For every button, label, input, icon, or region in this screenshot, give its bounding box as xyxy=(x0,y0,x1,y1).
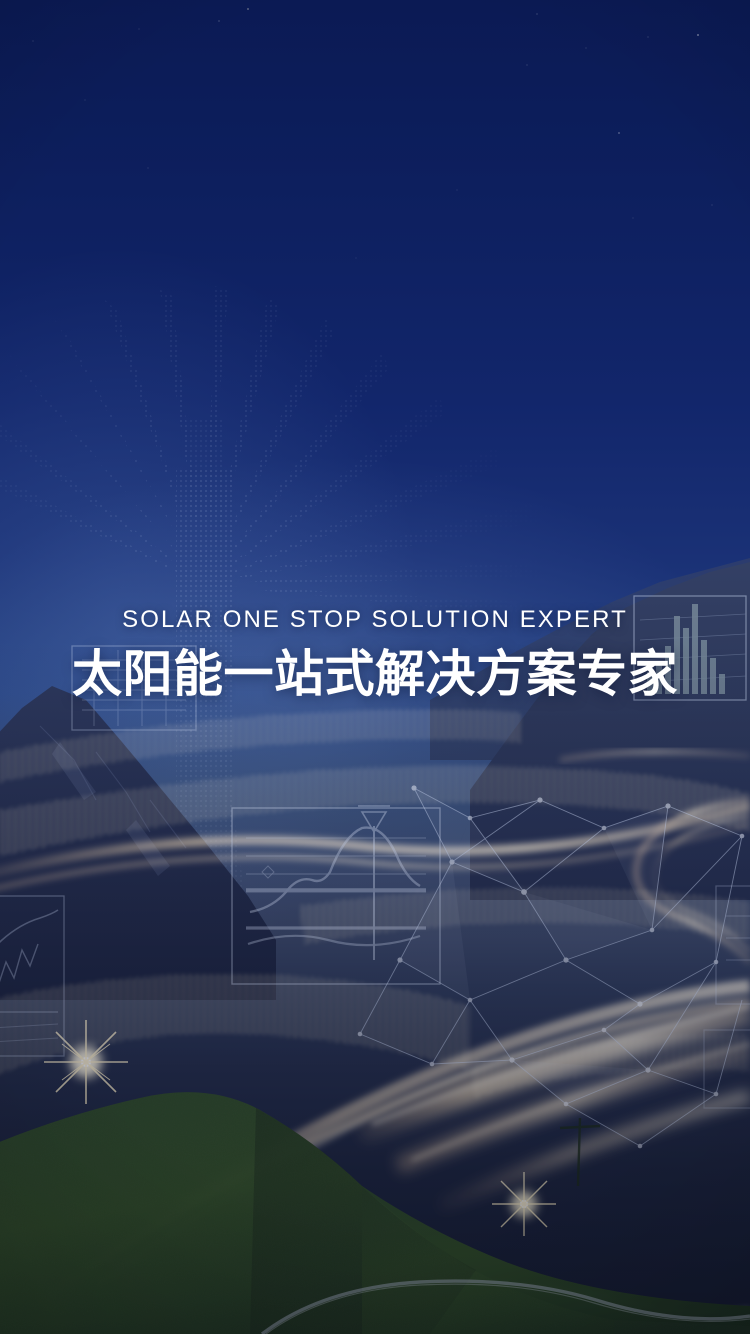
hero-banner: SOLAR ONE STOP SOLUTION EXPERT 太阳能一站式解决方… xyxy=(0,0,750,1334)
bracket-panel-icon xyxy=(716,886,750,1004)
bracket-panel-icon xyxy=(704,1030,750,1108)
lens-flare-icon xyxy=(492,1172,556,1236)
line-chart-panel-icon xyxy=(0,896,64,1056)
page-title: 太阳能一站式解决方案专家 xyxy=(0,645,750,703)
hero-subtitle: SOLAR ONE STOP SOLUTION EXPERT xyxy=(0,604,750,636)
hero-copy-block: SOLAR ONE STOP SOLUTION EXPERT 太阳能一站式解决方… xyxy=(0,604,750,703)
wave-chart-panel-icon xyxy=(232,806,440,984)
lens-flare-icon xyxy=(44,1020,128,1104)
